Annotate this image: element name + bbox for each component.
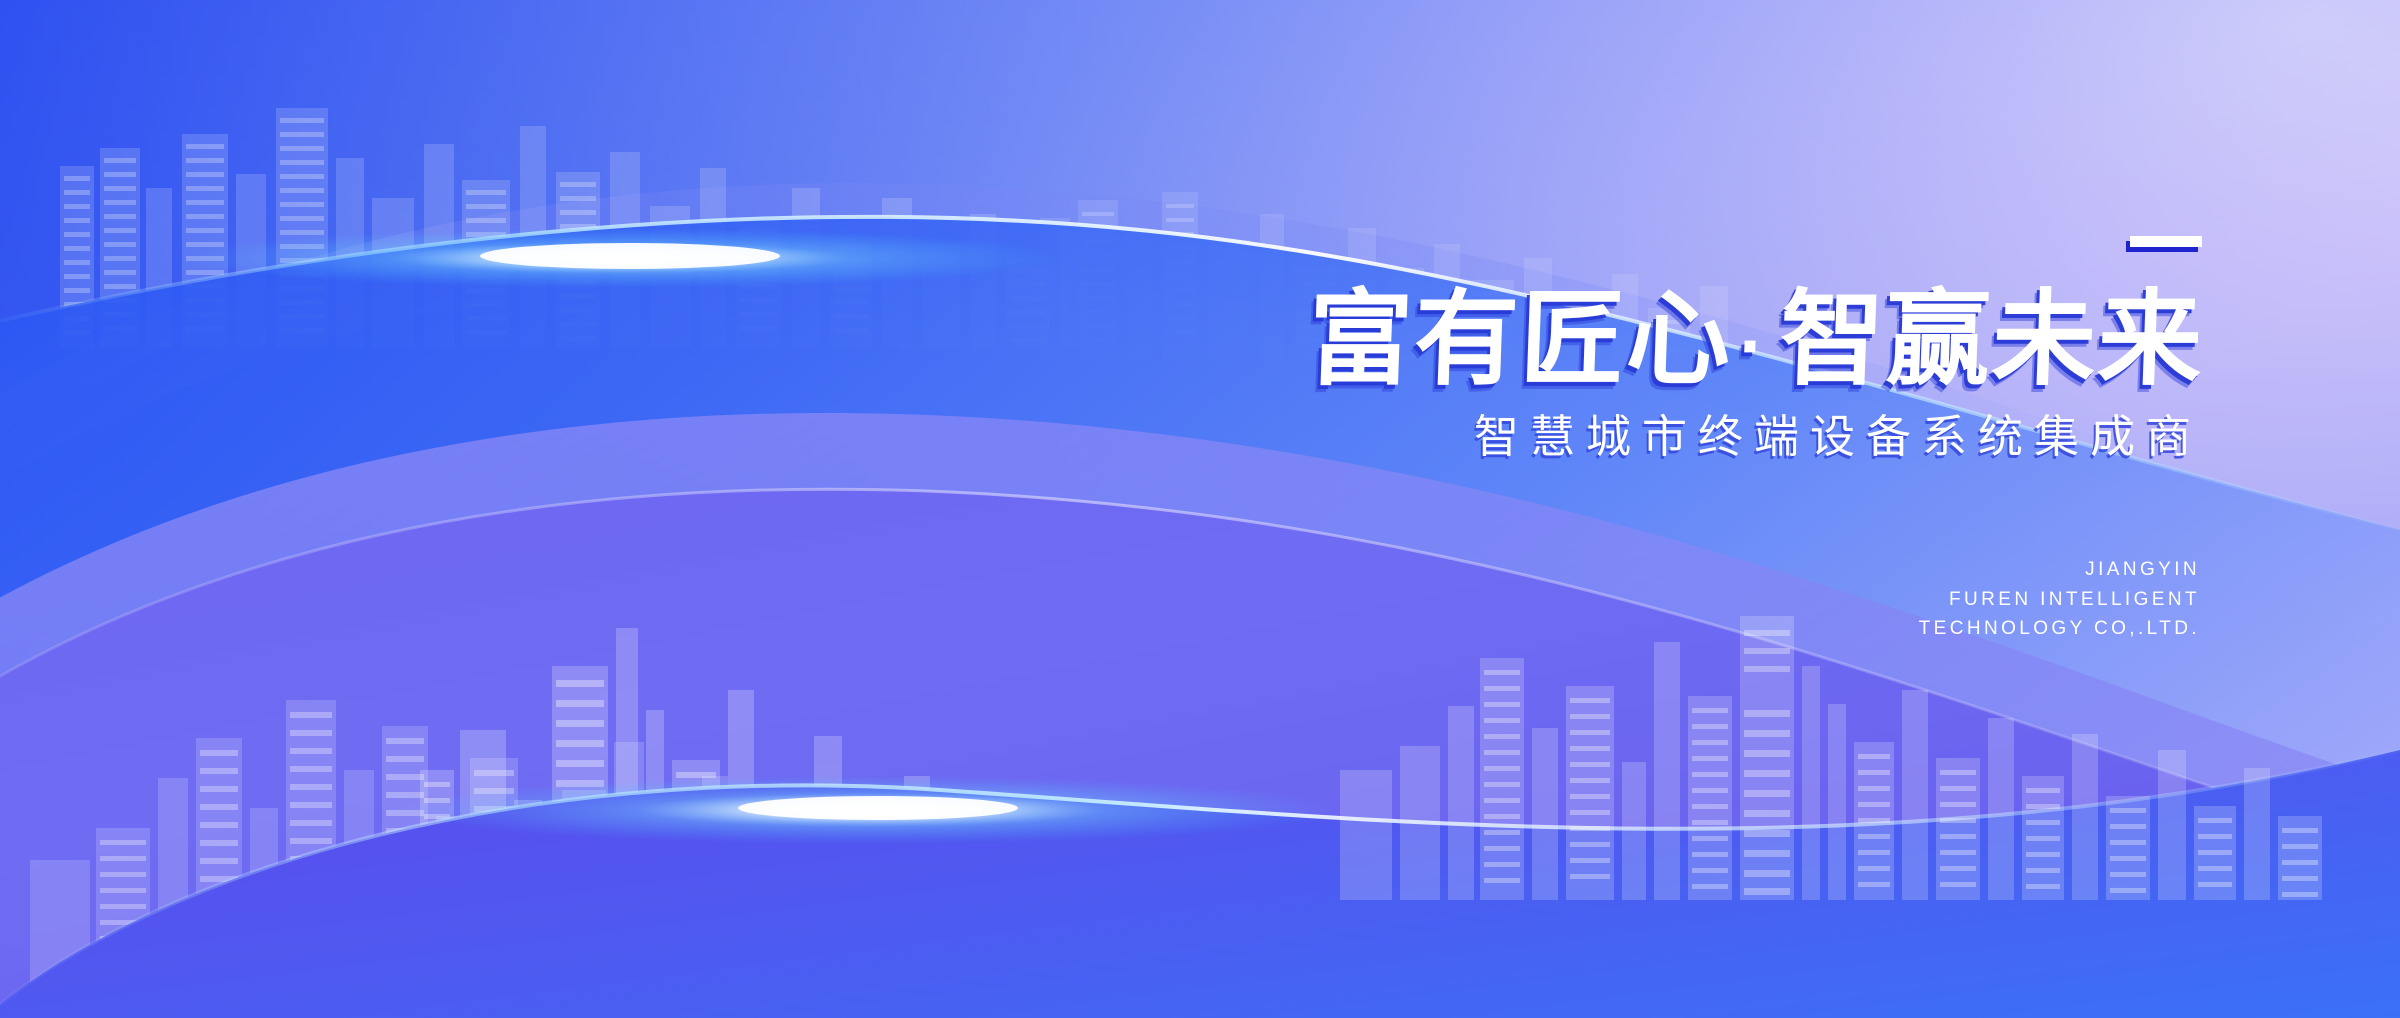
title-separator-dot: ·: [1737, 310, 1775, 383]
page-subtitle: 智慧城市终端设备系统集成商: [904, 414, 2204, 459]
title-part-two: 智赢未来: [1778, 278, 2206, 400]
title-part-one: 富有匠心: [1306, 278, 1734, 400]
company-line-suffix: TECHNOLOGY CO,.LTD.: [904, 614, 2200, 643]
page-title: 富有匠心·智赢未来: [902, 286, 2206, 392]
company-name-block: JIANGYIN FUREN INTELLIGENT TECHNOLOGY CO…: [904, 555, 2204, 643]
company-line-name: FUREN INTELLIGENT: [904, 585, 2200, 614]
dash-accent-mark: [2130, 236, 2202, 247]
company-line-city: JIANGYIN: [904, 555, 2200, 584]
hero-banner: 富有匠心·智赢未来 智慧城市终端设备系统集成商 JIANGYIN FUREN I…: [0, 0, 2400, 1018]
city-skyline-right-lower: [1330, 600, 2330, 900]
headline-block: 富有匠心·智赢未来 智慧城市终端设备系统集成商 JIANGYIN FUREN I…: [904, 236, 2204, 643]
